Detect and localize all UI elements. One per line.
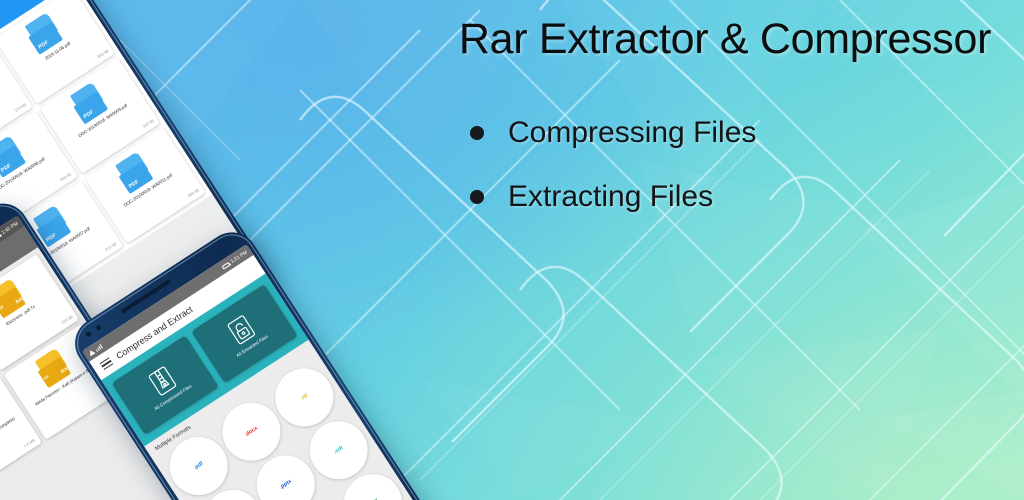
hamburger-icon[interactable] bbox=[100, 357, 114, 370]
feature-bullet: Extracting Files bbox=[470, 165, 1020, 229]
bullet-dot-icon bbox=[470, 190, 484, 204]
battery-icon bbox=[222, 261, 231, 269]
proximity-sensor-icon bbox=[95, 324, 102, 331]
signal-icon bbox=[94, 344, 103, 352]
feature-bullet-list: Compressing Files Extracting Files bbox=[430, 101, 1020, 229]
file-size: 318 kB bbox=[142, 118, 155, 129]
battery-icon bbox=[0, 233, 1, 241]
marketing-copy: Rar Extractor & Compressor Compressing F… bbox=[430, 14, 1020, 229]
feature-bullet: Compressing Files bbox=[470, 101, 1020, 165]
file-size: 693 kB bbox=[96, 48, 109, 59]
file-size: 229 kB bbox=[60, 314, 73, 325]
feature-graphic-banner: Rar Extractor & Compressor Compressing F… bbox=[0, 0, 1024, 500]
app-title: Rar Extractor & Compressor bbox=[430, 14, 1020, 65]
file-size: 693 kB bbox=[59, 171, 72, 182]
file-size: 693 kB bbox=[187, 187, 200, 198]
feature-bullet-label: Compressing Files bbox=[508, 116, 756, 150]
file-size: 219 kB bbox=[14, 102, 27, 113]
play-indicator-icon bbox=[88, 349, 96, 356]
file-size: 219 kB bbox=[104, 241, 117, 252]
bullet-dot-icon bbox=[470, 126, 484, 140]
feature-bullet-label: Extracting Files bbox=[508, 180, 713, 214]
front-camera-icon bbox=[85, 331, 92, 338]
